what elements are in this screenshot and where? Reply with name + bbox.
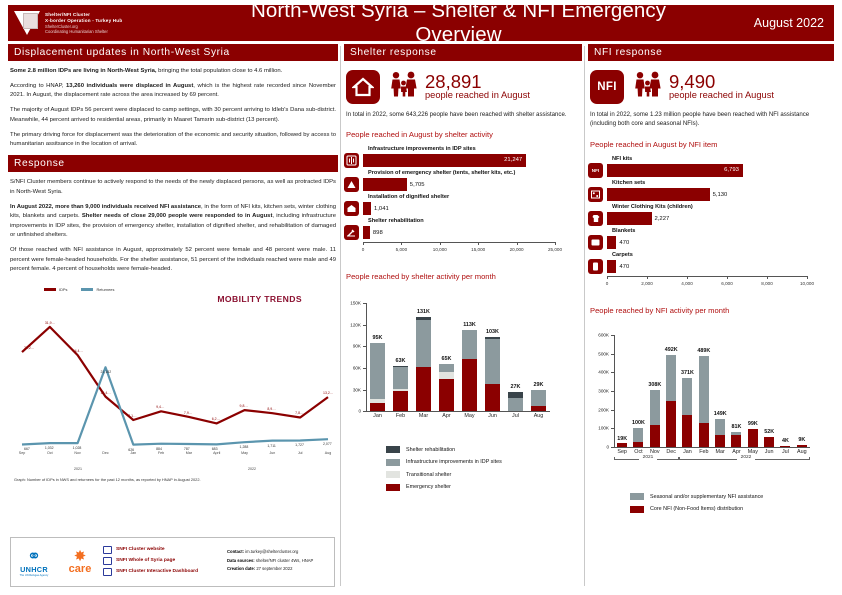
legend-label: Infrastructure improvements in IDP sites [406,459,502,465]
legend-swatch [386,484,400,491]
x-axis-label: Jan [366,413,389,419]
x-axis-label: Aug [794,449,810,455]
bar-segment [682,415,692,447]
bar-value: 6,793 [724,167,739,173]
x-axis-label: Jul [288,451,312,455]
displacement-section-title: Displacement updates in North-West Syria [8,44,338,61]
house-icon [346,70,380,104]
x-tick-label: 20,000 [510,247,524,252]
legend-swatch [386,446,400,453]
tent-icon [344,177,359,192]
bar-value: 2,227 [655,216,670,222]
unhcr-emblem-icon: ⚭ [11,548,57,565]
bar-value: 5,705 [410,182,425,188]
bar-fill [363,178,407,191]
bar-fill [607,188,710,201]
x-axis-label: Feb [389,413,412,419]
left-column: Displacement updates in North-West Syria… [8,44,338,482]
bar-total-label: 131K [404,309,444,315]
y-tick-label: 200K [588,407,609,412]
bar-item: Shelter rehabilitation898 [344,218,582,240]
y-tick-label: 300K [588,389,609,394]
bar-segment [370,343,384,400]
stacked-bar [508,392,522,411]
legend-label: Emergency shelter [406,484,451,490]
nfi-monthly-title: People reached by NFI activity per month [590,306,834,315]
legend-label: Returnees [96,287,114,292]
legend-label: Shelter rehabilitation [406,447,455,453]
legend-swatch [44,288,56,291]
bar-total-label: 29K [519,382,559,388]
legend-swatch [81,288,93,291]
shelter-stat-caption: people reached in August [425,91,530,101]
bar-segment [485,339,499,384]
stacked-bar [439,364,453,411]
data-point-label: 9,4… [156,405,164,409]
legend-item: IDPs [44,287,67,292]
y-tick-label: 90K [344,344,361,349]
data-point-label: 8,9… [267,407,275,411]
nfi-chart-legend: Seasonal and/or supplementary NFI assist… [588,493,834,513]
data-point-label: 21,182 [100,370,111,374]
bar-segment [439,379,453,411]
blanket-icon [588,235,603,250]
bar-total-label: 52K [749,429,789,435]
x-tick-label: 4,000 [681,281,693,286]
x-axis-label: April [205,451,229,455]
data-point-label: 1,288 [240,445,249,449]
bar-item: Carpets470 [588,252,834,274]
x-axis-label: Aug [316,451,340,455]
bar-segment [508,398,522,412]
nfi-section-title: NFI response [588,44,834,61]
footer-link[interactable]: SNFI Cluster Interactive Dashboard [103,568,223,576]
x-axis-label: Jul [777,449,793,455]
footer-link-label: SNFI Cluster Interactive Dashboard [116,569,198,574]
bar-segment [439,364,453,371]
bar-segment [370,403,384,412]
x-axis-label: Aug [527,413,550,419]
paragraph: The primary driving force for displaceme… [8,131,338,150]
bar-item: Installation of dignified shelter1,041 [344,194,582,216]
bar-segment [393,367,407,389]
paragraph: The majority of August IDPs 56 percent w… [8,106,338,125]
bar-item: Provision of emergency shelter (tents, s… [344,170,582,192]
kitchen-set-icon [588,187,603,202]
footer-metadata: Contact: im.turkey@sheltercluster.orgDat… [223,549,334,575]
monitor-icon [103,557,112,565]
legend-label: Transitional shelter [406,472,451,478]
y-tick-label: 0 [588,445,609,450]
paragraph: According to HNAP, 13,260 individuals we… [8,82,338,101]
footer-link-label: SNFI Cluster website [116,547,165,552]
bar-chart-x-axis: 02,0004,0006,0008,00010,000 [607,276,807,292]
y-tick-label: 30K [344,387,361,392]
bar-segment [731,435,741,448]
carpet-icon [588,259,603,274]
x-axis-label: Mar [412,413,435,419]
bar-segment [531,406,545,411]
bar-fill: 21,247 [363,154,526,167]
bar-item: Blankets470 [588,228,834,250]
y-tick-label: 400K [588,370,609,375]
mobility-lines [8,311,338,461]
x-axis-label: Jan [679,449,695,455]
stacked-bar [731,432,741,447]
shelter-chart-legend: Shelter rehabilitationInfrastructure imp… [344,446,582,491]
legend-swatch [630,493,644,500]
unhcr-tagline: The UN Refugee Agency [11,574,57,577]
mobility-caption: Graph: Number of IDPs in NWS and returne… [14,477,201,482]
legend-label: IDPs [59,287,67,292]
cluster-logo: Shelter/NFI Cluster X-border Operation -… [8,9,208,37]
monitor-icon [103,546,112,554]
x-tick-label: 2,000 [641,281,653,286]
bar-segment [780,446,790,447]
bar-value: 1,041 [374,206,389,212]
family-icon [389,71,419,102]
legend-swatch [630,506,644,513]
logo-line-4: Coordinating Humanitarian Shelter [45,29,122,34]
bar-fill [607,260,616,273]
bar-segment [715,435,725,447]
data-point-label: 1,032 [45,446,54,450]
bar-total-label: 9K [782,437,822,443]
bar-item: NFI kitsNFI6,793 [588,156,834,178]
x-tick-label: 0 [362,247,365,252]
footer-meta-row: Contact: im.turkey@sheltercluster.org [227,549,334,554]
footer-meta-row: Data sources: shelter/NFI cluster 4Ws, H… [227,558,334,563]
data-point-label: 1,711 [267,444,276,448]
column-divider-2 [584,46,585,586]
bar-segment [531,390,545,405]
bar-total-label: 95K [358,335,398,341]
year-group-label: 2021 [639,455,658,460]
x-axis-label: Sep [614,449,630,455]
response-paragraphs: S/NFI Cluster members continue to active… [8,178,338,275]
y-tick-label: 0 [344,409,361,414]
bar-segment [416,367,430,411]
bar-label: Provision of emergency shelter (tents, s… [368,170,582,176]
bar-label: NFI kits [612,156,834,162]
legend-item: Seasonal and/or supplementary NFI assist… [630,493,834,500]
monitor-icon [103,568,112,576]
bar-segment [650,425,660,447]
year-group-label: 2022 [737,455,756,460]
stacked-bar [531,390,545,411]
bar-label: Winter Clothing Kits (children) [612,204,834,210]
data-point-label: 13,2… [323,391,333,395]
y-axis [614,335,615,447]
bar-value: 898 [373,230,383,236]
legend-swatch [386,471,400,478]
x-tick-label: 6,000 [721,281,733,286]
legend-swatch [386,459,400,466]
nfi-stat-value: 9,490 [669,72,774,91]
stacked-bar [370,343,384,412]
y-tick-label: 120K [344,322,361,327]
x-axis-label: Mar [712,449,728,455]
bar-segment [666,401,676,447]
logo-line-2: X-border Operation - Turkey Hub [45,18,122,24]
nfi-item-bars: NFI kitsNFI6,793Kitchen sets5,130Winter … [588,156,834,292]
x-tick-label: 5,000 [396,247,408,252]
bar-item: Winter Clothing Kits (children)2,227 [588,204,834,226]
footer-link[interactable]: SNFI Cluster website [103,546,223,554]
shelter-in-total-text: In total in 2022, some 643,226 people ha… [346,110,580,120]
mobility-trends-chart: IDPsReturnees MOBILITY TRENDS 25,2…31,9…… [8,287,338,482]
bar-fill [363,202,371,215]
displacement-paragraphs: Some 2.8 million IDPs are living in Nort… [8,67,338,150]
stacked-bar [650,390,660,447]
shelter-stat-value: 28,891 [425,72,530,91]
stacked-bar [462,330,476,411]
x-tick-label: 10,000 [800,281,814,286]
care-logo: ✸ care [57,549,103,575]
page-footer: ⚭ UNHCR The UN Refugee Agency ✸ care SNF… [10,537,335,587]
x-axis-label: May [458,413,481,419]
bar-fill: 6,793 [607,164,743,177]
bar-value: 470 [619,264,629,270]
bar-item: Infrastructure improvements in IDP sites… [344,146,582,168]
column-divider-1 [340,46,341,586]
bar-label: Kitchen sets [612,180,834,186]
bar-segment [682,378,692,415]
x-tick-label: 15,000 [471,247,485,252]
shelter-activity-subhead: People reached in August by shelter acti… [346,130,582,139]
bar-label: Carpets [612,252,834,258]
nfi-column: NFI response NFI 9,490 people reached in… [588,44,834,518]
data-point-label: 1,028 [73,446,82,450]
y-tick-label: 600K [588,333,609,338]
footer-links: SNFI Cluster websiteSNFI Whole of Syria … [103,546,223,579]
stacked-bar [797,445,807,447]
nfi-badge-label: NFI [597,81,616,93]
y-tick-label: 500K [588,351,609,356]
paragraph: Of those reached with NFI assistance in … [8,246,338,275]
legend-label: Seasonal and/or supplementary NFI assist… [650,494,763,500]
care-name: care [57,564,103,575]
bar-segment [633,428,643,441]
x-tick-label: 0 [606,281,609,286]
x-axis-label: Feb [149,451,173,455]
legend-item: Infrastructure improvements in IDP sites [386,459,582,466]
bar-label: Installation of dignified shelter [368,194,582,200]
x-axis-label: Jun [481,413,504,419]
data-point-label: 7,8… [295,411,303,415]
stacked-bar [393,366,407,411]
paragraph: S/NFI Cluster members continue to active… [8,178,338,197]
stacked-bar [699,356,709,447]
data-point-label: 25,2… [24,346,34,350]
nfi-stat-caption: people reached in August [669,91,774,101]
footer-meta-row: Creation date: 27 september 2022 [227,566,334,571]
nfi-badge-icon: NFI [590,70,624,104]
footer-link[interactable]: SNFI Whole of Syria page [103,557,223,565]
paragraph: In August 2022, more than 9,000 individu… [8,203,338,241]
legend-item: Transitional shelter [386,471,582,478]
data-point-label: 31,9… [45,321,55,325]
y-axis [366,303,367,411]
bar-total-label: 489K [684,348,724,354]
bar-segment [617,443,627,447]
x-axis-label: May [233,451,257,455]
bar-label: Blankets [612,228,834,234]
stacked-bar [485,337,499,411]
bar-value: 470 [619,240,629,246]
response-section-title: Response [8,155,338,172]
house-glyph [352,77,374,97]
shelter-cluster-logo-icon [14,9,40,37]
x-axis-label: Sep [10,451,34,455]
shelter-monthly-title: People reached by shelter activity per m… [346,272,582,281]
x-axis-label: Oct [38,451,62,455]
bar-label: Shelter rehabilitation [368,218,582,224]
bar-total-label: 65K [427,356,467,362]
report-date: August 2022 [709,16,834,30]
data-point-label: 9,8… [240,404,248,408]
bar-total-label: 113K [450,322,490,328]
x-axis-label: Mar [177,451,201,455]
unhcr-name: UNHCR [11,565,57,574]
x-axis-label: Jan [121,451,145,455]
mobility-legend: IDPsReturnees [44,287,114,292]
bar-segment [393,391,407,412]
bar-fill [607,236,616,249]
nfi-item-subhead: People reached in August by NFI item [590,140,834,149]
x-axis [614,447,810,448]
shelter-section-title: Shelter response [344,44,582,61]
x-axis-label: Jun [761,449,777,455]
bar-segment [462,359,476,411]
data-point-label: 6,2… [212,417,220,421]
bar-item: Kitchen sets5,130 [588,180,834,202]
nfi-headline-stat: NFI 9,490 people reached in August [590,70,834,104]
x-axis-label: Jun [260,451,284,455]
mobility-year-2022: 2022 [248,467,256,471]
data-point-label: 7,1… [128,414,136,418]
infographic-page: Shelter/NFI Cluster X-border Operation -… [0,0,842,595]
bar-segment [633,442,643,447]
shelter-column: Shelter response 28,891 people [344,44,582,496]
paragraph: Some 2.8 million IDPs are living in Nort… [8,67,338,77]
infrastructure-icon [344,153,359,168]
stacked-bar [780,446,790,447]
bar-chart-x-axis: 05,00010,00015,00020,00025,000 [363,242,555,258]
shelter-activity-bars: Infrastructure improvements in IDP sites… [344,146,582,258]
bar-segment [699,423,709,447]
data-point-label: 18,4… [100,391,110,395]
stacked-bar [633,428,643,447]
x-tick-label: 10,000 [433,247,447,252]
page-header: Shelter/NFI Cluster X-border Operation -… [8,5,834,41]
x-axis-label: Dec [663,449,679,455]
legend-item: Shelter rehabilitation [386,446,582,453]
y-tick-label: 60K [344,366,361,371]
legend-item: Returnees [81,287,114,292]
page-title: North-West Syria – Shelter & NFI Emergen… [208,0,709,47]
bar-segment [650,390,660,426]
bar-segment [439,372,453,379]
legend-item: Emergency shelter [386,484,582,491]
x-axis-label: Feb [696,449,712,455]
stacked-bar [416,317,430,411]
stacked-bar [617,443,627,447]
bar-value: 5,130 [713,192,728,198]
family-icon [633,71,663,102]
data-point-label: 1,727 [295,443,304,447]
bar-label: Infrastructure improvements in IDP sites [368,146,582,152]
legend-item: Core NFI (Non-Food Items) distribution [630,506,834,513]
care-emblem-icon: ✸ [57,549,103,564]
x-axis-label: Dec [93,451,117,455]
dignified-shelter-icon [344,201,359,216]
shelter-headline-stat: 28,891 people reached in August [346,70,582,104]
clothing-kit-icon [588,211,603,226]
rehabilitation-icon [344,225,359,240]
nfi-kit-icon: NFI [588,163,603,178]
x-tick-label: 25,000 [548,247,562,252]
legend-label: Core NFI (Non-Food Items) distribution [650,506,743,512]
x-axis-label: Jul [504,413,527,419]
bar-total-label: 149K [700,411,740,417]
mobility-chart-title: MOBILITY TRENDS [217,294,302,304]
bar-fill [363,226,370,239]
x-tick-label: 8,000 [761,281,773,286]
data-point-label: 24,4… [73,349,83,353]
y-tick-label: 100K [588,426,609,431]
bar-value: 21,247 [504,157,522,163]
bar-fill [607,212,652,225]
stacked-bar [682,378,692,447]
bar-segment [666,355,676,401]
bar-total-label: 63K [381,358,421,364]
shelter-monthly-chart: 030K60K90K120K150K95KJan63KFeb131KMar65K… [344,285,582,440]
x-axis-label: Apr [435,413,458,419]
footer-link-label: SNFI Whole of Syria page [116,558,175,563]
unhcr-logo: ⚭ UNHCR The UN Refugee Agency [11,548,57,577]
bar-segment [797,445,807,447]
x-axis [366,411,550,412]
bar-total-label: 103K [473,329,513,335]
nfi-in-total-text: In total in 2022, some 1.23 million peop… [590,110,832,130]
mobility-year-2021: 2021 [74,467,82,471]
data-point-label: 7,9… [184,411,192,415]
x-axis-label: Nov [66,451,90,455]
data-point-label: 2,077 [323,442,332,446]
nfi-monthly-chart: 0100K200K300K400K500K600K19KSep100KOct30… [588,319,834,479]
y-tick-label: 150K [344,301,361,306]
bar-total-label: 99K [733,421,773,427]
